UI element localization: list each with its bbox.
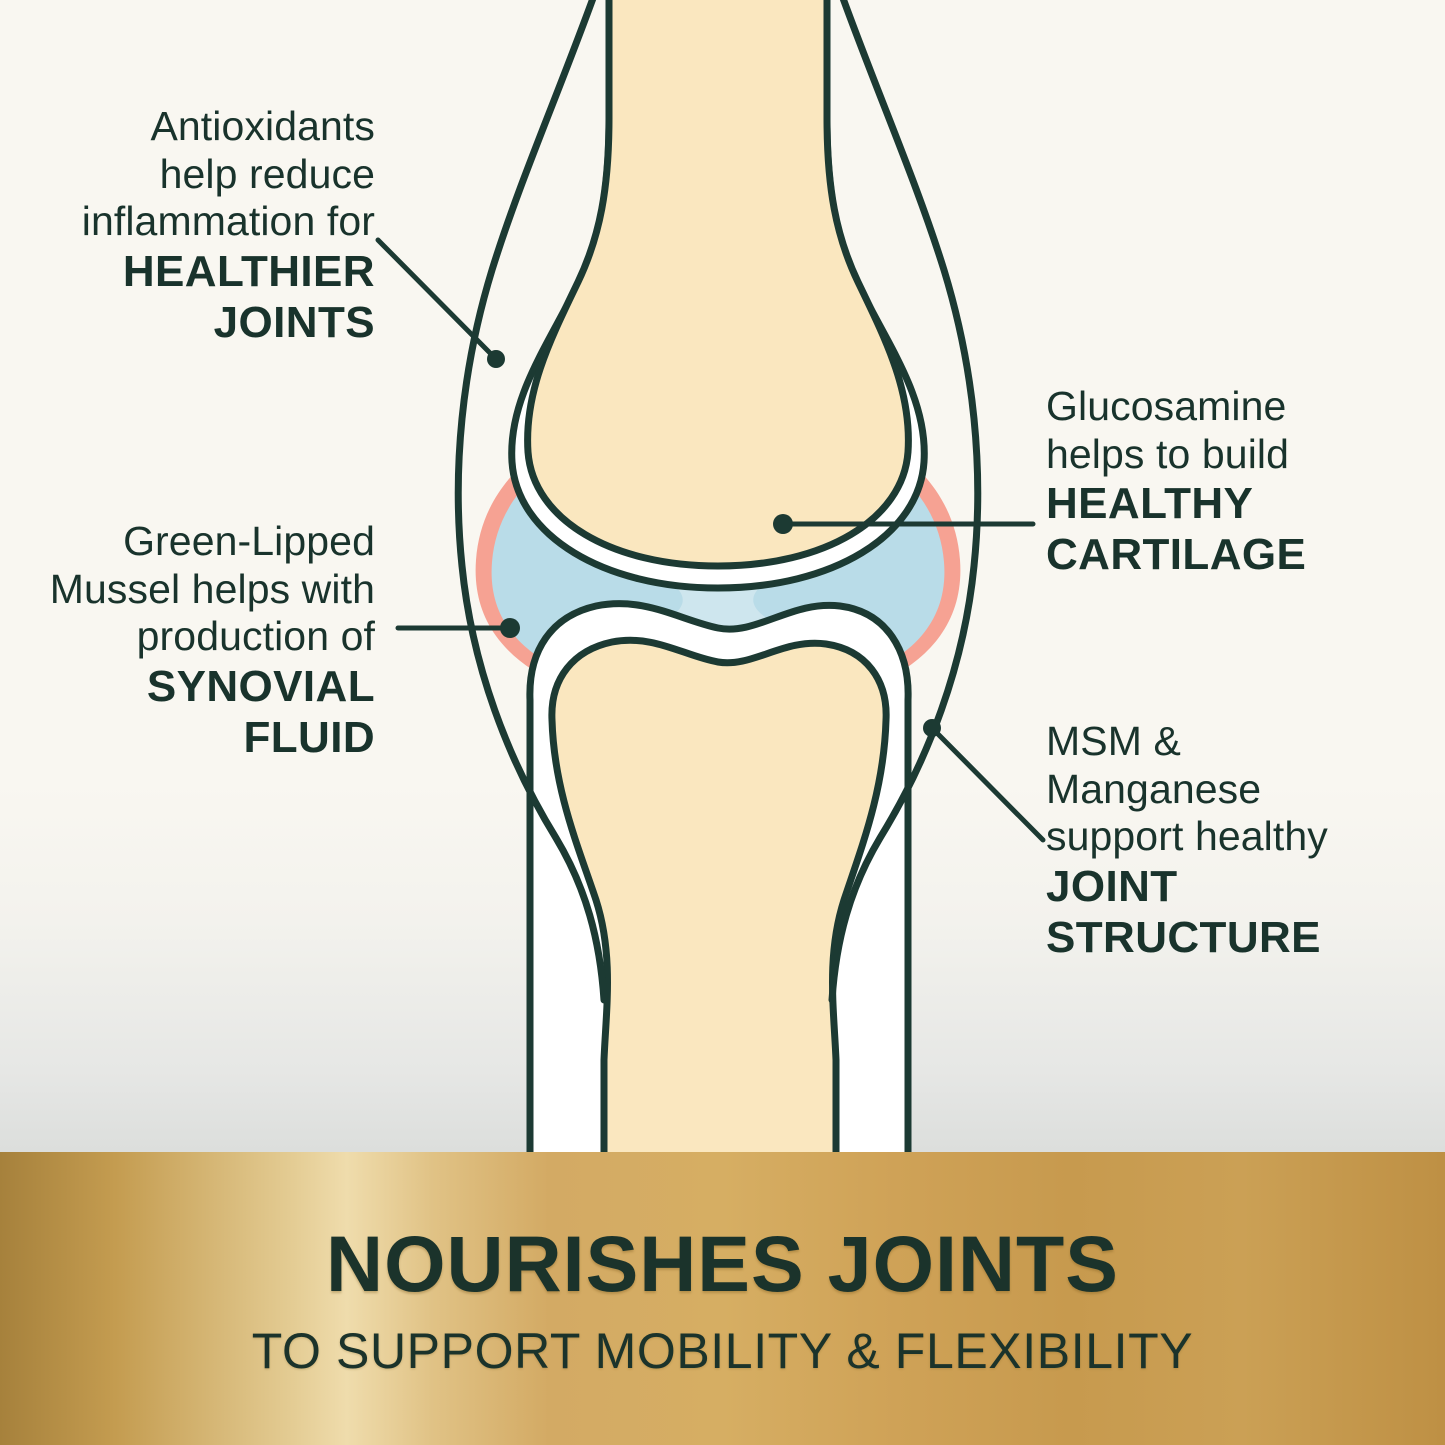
callout-msm-bold-1: JOINT	[1046, 861, 1426, 912]
lower-bone-tibia	[552, 640, 886, 1160]
callout-antioxidants-bold-1: HEALTHIER	[30, 246, 375, 297]
callout-antioxidants-line-3: inflammation for	[30, 198, 375, 246]
callout-glucosamine-line-1: Glucosamine	[1046, 383, 1416, 431]
upper-bone-femur	[528, 0, 909, 566]
callout-glucosamine-bold-1: HEALTHY	[1046, 478, 1416, 529]
callout-mussel-bold-1: SYNOVIAL	[10, 661, 375, 712]
callout-antioxidants-bold-2: JOINTS	[30, 297, 375, 348]
callout-green-lipped-mussel: Green-Lipped Mussel helps with productio…	[10, 518, 375, 763]
banner-headline: NOURISHES JOINTS	[326, 1218, 1119, 1310]
callout-glucosamine: Glucosamine helps to build HEALTHY CARTI…	[1046, 383, 1416, 580]
gold-banner-content: NOURISHES JOINTS TO SUPPORT MOBILITY & F…	[0, 1152, 1445, 1445]
infographic-canvas: Antioxidants help reduce inflammation fo…	[0, 0, 1445, 1445]
callout-antioxidants-line-2: help reduce	[30, 151, 375, 199]
callout-antioxidants-line-1: Antioxidants	[30, 103, 375, 151]
callout-msm-bold-2: STRUCTURE	[1046, 912, 1426, 963]
callout-msm-line-3: support healthy	[1046, 813, 1426, 861]
callout-msm-line-1: MSM &	[1046, 718, 1426, 766]
leader-line-msm-manganese	[923, 719, 1043, 840]
callout-antioxidants: Antioxidants help reduce inflammation fo…	[30, 103, 375, 348]
callout-mussel-line-1: Green-Lipped	[10, 518, 375, 566]
gold-banner: NOURISHES JOINTS TO SUPPORT MOBILITY & F…	[0, 1152, 1445, 1445]
banner-subheadline: TO SUPPORT MOBILITY & FLEXIBILITY	[252, 1322, 1193, 1380]
callout-glucosamine-line-2: helps to build	[1046, 431, 1416, 479]
callout-mussel-line-2: Mussel helps with	[10, 566, 375, 614]
callout-mussel-line-3: production of	[10, 613, 375, 661]
callout-msm-line-2: Manganese	[1046, 766, 1426, 814]
callout-msm-manganese: MSM & Manganese support healthy JOINT ST…	[1046, 718, 1426, 963]
callout-glucosamine-bold-2: CARTILAGE	[1046, 529, 1416, 580]
callout-mussel-bold-2: FLUID	[10, 712, 375, 763]
